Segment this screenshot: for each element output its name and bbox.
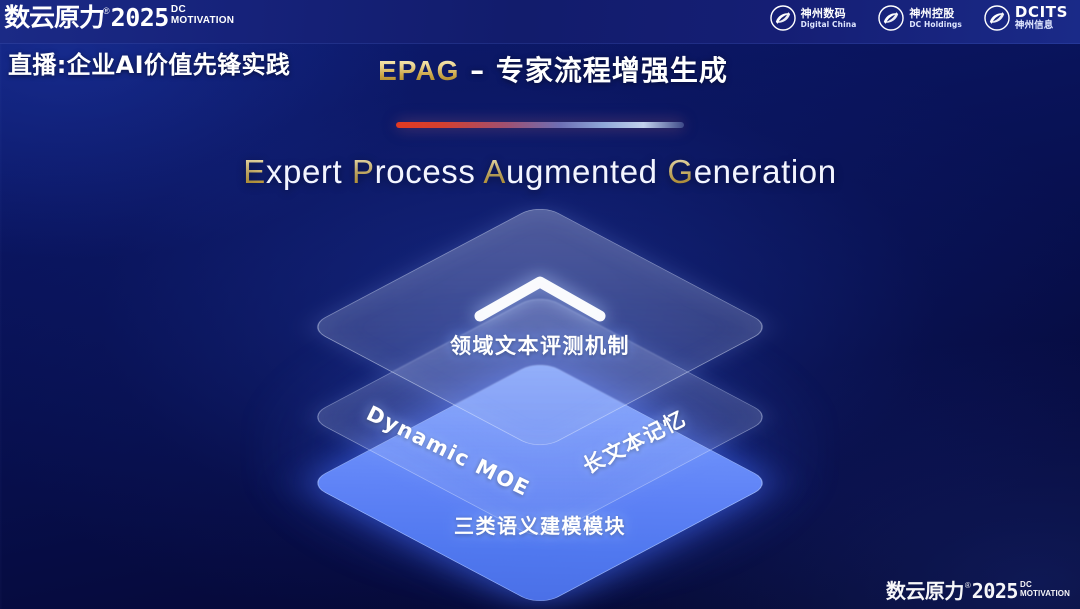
watermark-dc-label: DC (1020, 581, 1070, 589)
watermark-dc-motivation: DC MOTIVATION (1020, 581, 1070, 598)
partner-name-en: DC Holdings (909, 20, 962, 29)
stack-glow (250, 300, 830, 600)
layered-stack-diagram (0, 0, 1080, 609)
watermark-registered-mark-icon: ® (964, 580, 972, 592)
brand-dc-motivation: DC MOTIVATION (171, 5, 234, 26)
swirl-logo-icon (770, 5, 796, 31)
partner-text: 神州控股 DC Holdings (909, 8, 962, 29)
brand-dc-label: DC (171, 5, 234, 15)
live-stream-title: 直播:企业AI价值先锋实践 (8, 50, 290, 80)
stack-label-bottom: 三类语义建模模块 (370, 510, 710, 539)
subtitle-cap-g: G (667, 153, 693, 190)
watermark-year: 2025 (972, 580, 1018, 603)
partner-logo-group: 神州数码 Digital China 神州控股 DC Holdings (770, 5, 1068, 31)
partner-name-cn: 神州信息 (1015, 20, 1068, 31)
partner-name-cn: 神州数码 (801, 8, 857, 20)
subtitle-cap-a: A (483, 153, 506, 190)
partner-name-en: DCITS (1015, 5, 1068, 20)
swirl-logo-icon (878, 5, 904, 31)
background-streaks (0, 0, 1080, 609)
headline-chinese: 专家流程增强生成 (496, 54, 728, 87)
partner-text: 神州数码 Digital China (801, 8, 857, 29)
subtitle-rest-process: rocess (375, 153, 484, 190)
stack-layer-bottom (307, 359, 774, 606)
brand-name-cn: 数云原力 (4, 4, 104, 32)
swirl-logo-icon (984, 5, 1010, 31)
subtitle-rest-augmented: ugmented (506, 153, 667, 190)
brand-year: 2025 (111, 4, 169, 32)
watermark-motivation-label: MOTIVATION (1020, 589, 1070, 598)
slide-root: 数云原力®2025 DC MOTIVATION 直播:企业AI价值先锋实践 神州… (0, 0, 1080, 609)
subtitle-cap-p: P (352, 153, 375, 190)
stack-label-top: 领域文本评测机制 (370, 330, 710, 360)
partner-logo-dcits: DCITS 神州信息 (984, 5, 1068, 31)
brand-logo: 数云原力®2025 DC MOTIVATION (6, 4, 234, 32)
gradient-divider (396, 122, 684, 128)
chevron-up-icon (470, 272, 610, 324)
headline-inner: EPAG – 专家流程增强生成 (378, 52, 728, 90)
watermark-name-cn: 数云原力 (886, 580, 964, 603)
brand-motivation-label: MOTIVATION (171, 15, 234, 26)
subtitle-rest-generation: eneration (694, 153, 837, 190)
slide-subtitle: Expert Process Augmented Generation (0, 150, 1080, 194)
headline-acronym: EPAG (378, 55, 459, 86)
stack-layer-top (307, 203, 774, 450)
stack-label-dynamic-moe: Dynamic MOE (363, 401, 534, 501)
subtitle-text: Expert Process Augmented Generation (243, 150, 836, 194)
subtitle-rest-expert: xpert (266, 153, 352, 190)
partner-name-en: Digital China (801, 20, 857, 29)
partner-logo-dc-holdings: 神州控股 DC Holdings (878, 5, 962, 31)
partner-text: DCITS 神州信息 (1015, 5, 1068, 31)
partner-logo-digital-china: 神州数码 Digital China (770, 5, 857, 31)
partner-name-cn: 神州控股 (909, 8, 962, 20)
bottom-watermark-logo: 数云原力®2025 DC MOTIVATION (886, 580, 1070, 603)
stack-label-long-text-memory: 长文本记忆 (577, 403, 691, 481)
stack-layer-middle (307, 293, 774, 540)
headline-separator: – (459, 54, 496, 87)
subtitle-cap-e: E (243, 153, 266, 190)
